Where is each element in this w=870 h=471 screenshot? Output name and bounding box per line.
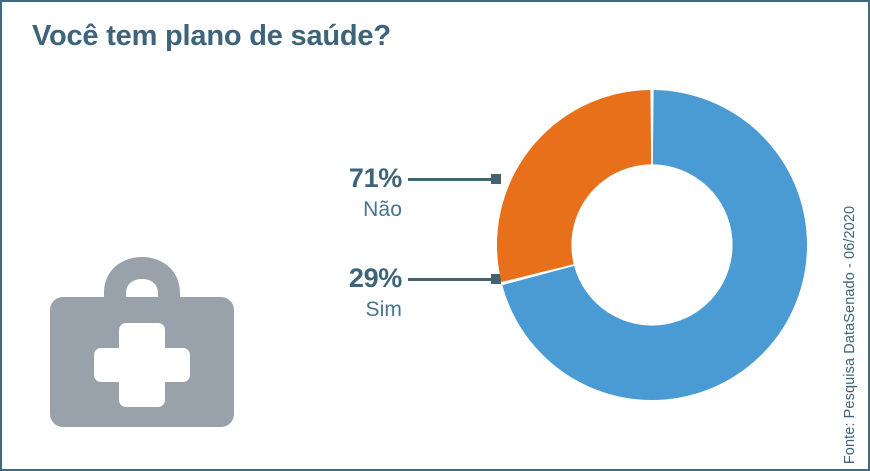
callout-nao: 71% Não — [247, 165, 402, 220]
source-credit: Fonte: Pesquisa DataSenado - 06/2020 — [835, 2, 865, 471]
leader-line-nao — [408, 178, 493, 181]
donut-chart — [497, 90, 807, 400]
leader-line-sim — [408, 278, 493, 281]
donut-slice-Sim — [497, 90, 651, 282]
callout-sim-label: Sim — [247, 299, 402, 320]
callout-nao-label: Não — [247, 199, 402, 220]
page-title: Você tem plano de saúde? — [32, 20, 732, 53]
callout-sim: 29% Sim — [247, 265, 402, 320]
callout-sim-percent: 29% — [247, 265, 402, 292]
source-credit-text: Fonte: Pesquisa DataSenado - 06/2020 — [842, 206, 858, 464]
medical-bag-icon — [42, 245, 242, 433]
infographic-card: Você tem plano de saúde? 71% Não 29% Sim… — [0, 0, 870, 471]
callout-nao-percent: 71% — [247, 165, 402, 192]
